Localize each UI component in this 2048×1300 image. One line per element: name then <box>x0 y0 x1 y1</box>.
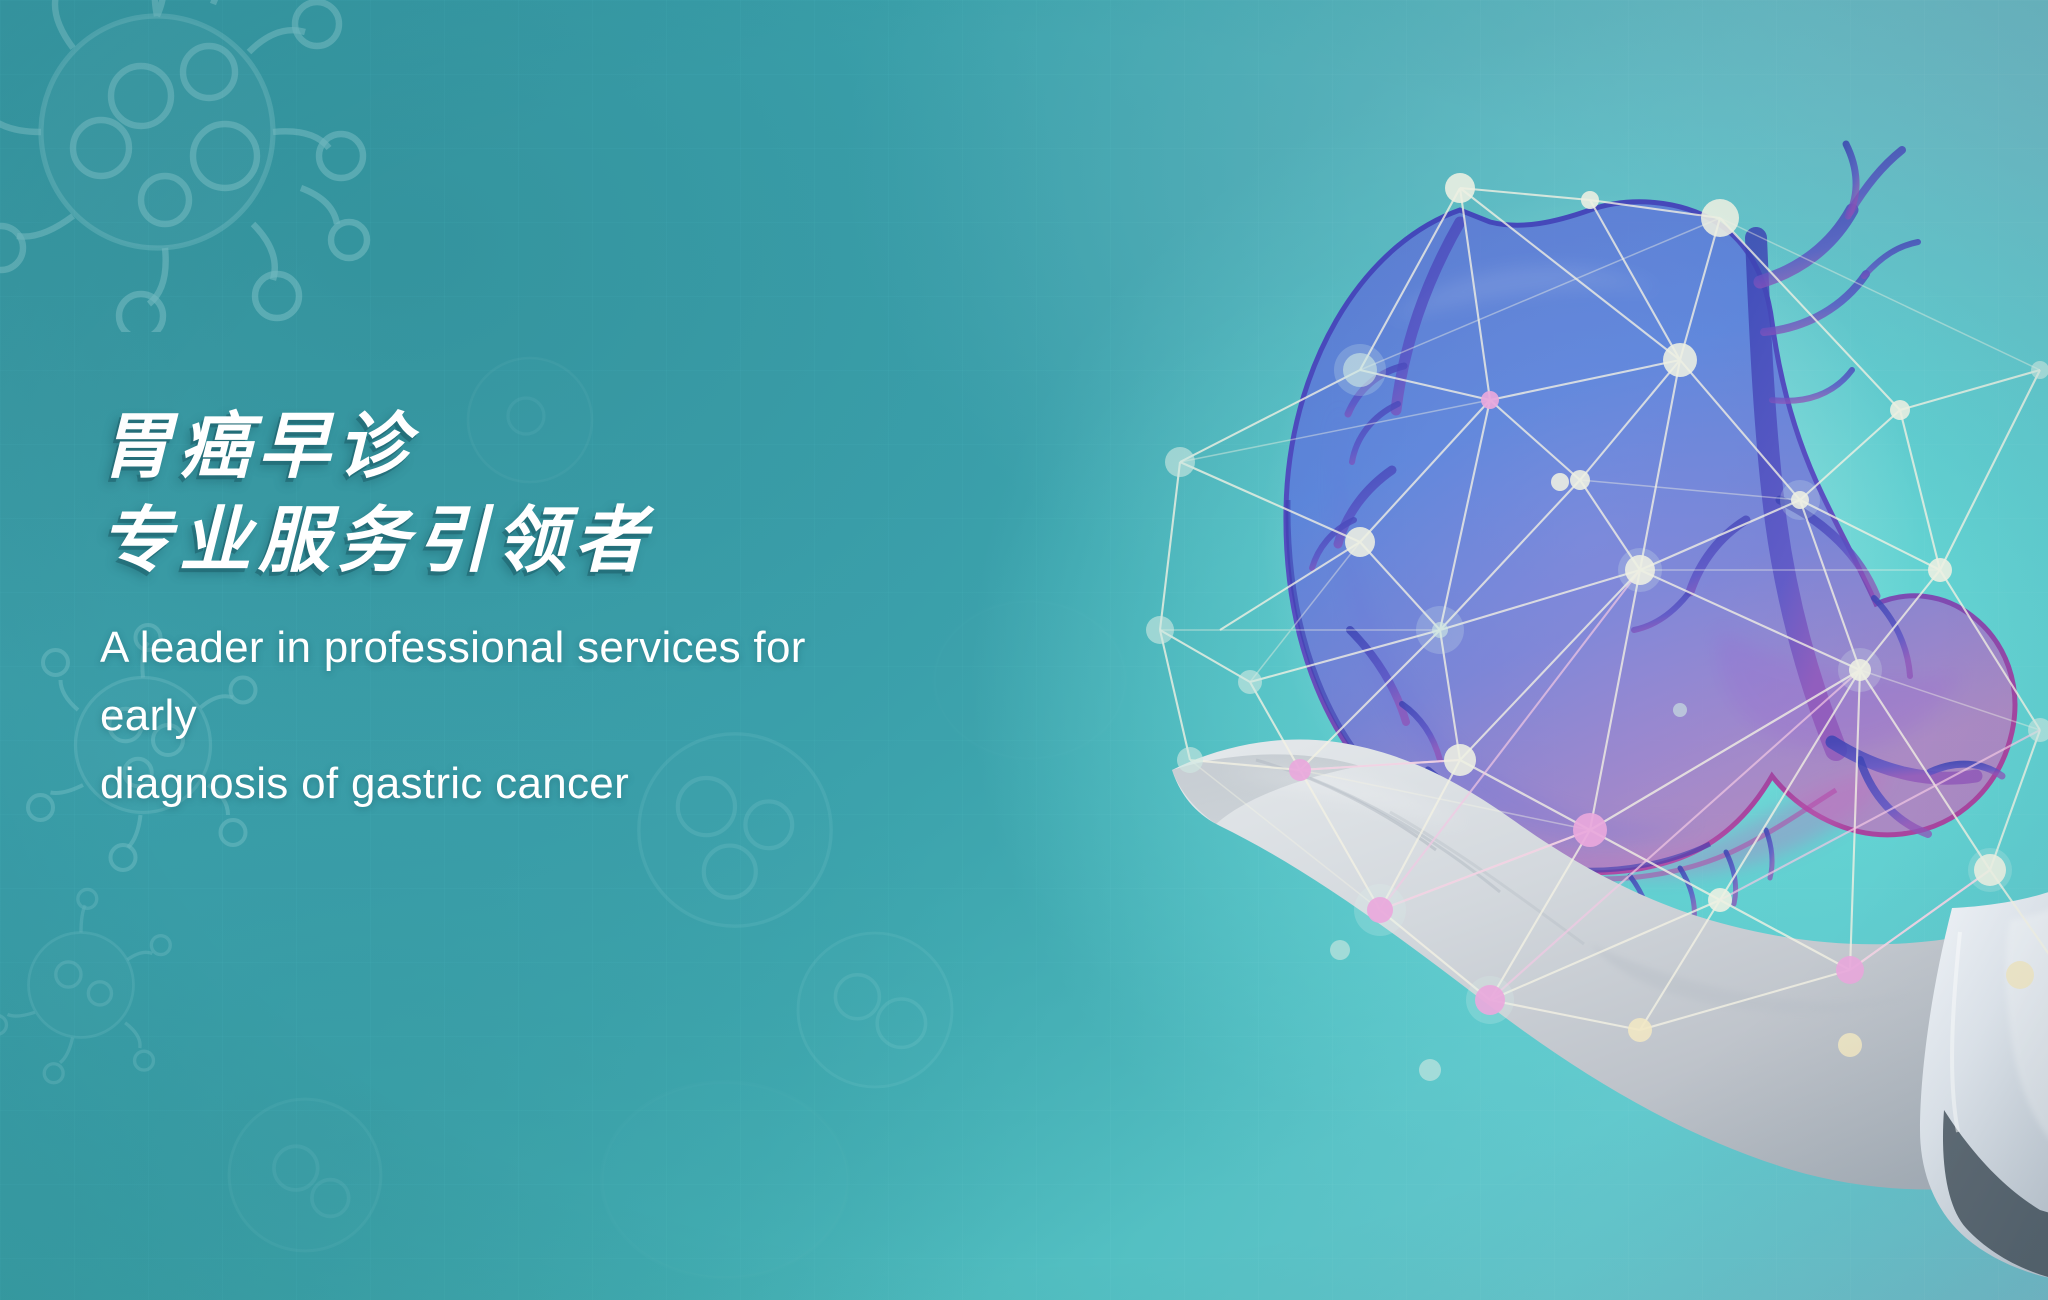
background-vignette <box>0 0 2048 1300</box>
banner-root: 胃癌早诊 专业服务引领者 A leader in professional se… <box>0 0 2048 1300</box>
